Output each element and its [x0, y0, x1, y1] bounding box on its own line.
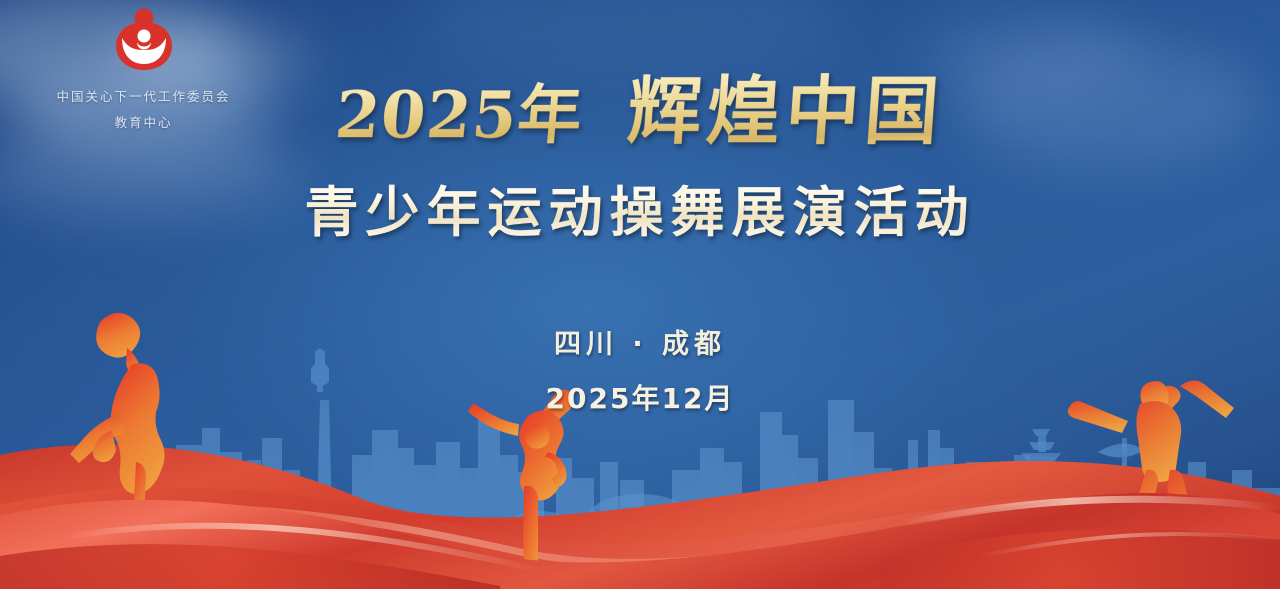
title-year: 2025年 — [332, 64, 587, 156]
event-subtitle: 青少年运动操舞展演活动 — [0, 168, 1280, 247]
title-main-text: 辉煌中国 — [624, 52, 947, 159]
event-date: 2025年12月 — [0, 377, 1280, 417]
main-title: 2025年 辉煌中国 — [0, 52, 1280, 159]
event-location: 四川 · 成都 — [0, 322, 1280, 361]
event-poster: 中国关心下一代工作委员会 教育中心 2025年 辉煌中国 青少年运动操舞展演活动… — [0, 0, 1280, 589]
event-info: 四川 · 成都 2025年12月 — [0, 322, 1280, 417]
